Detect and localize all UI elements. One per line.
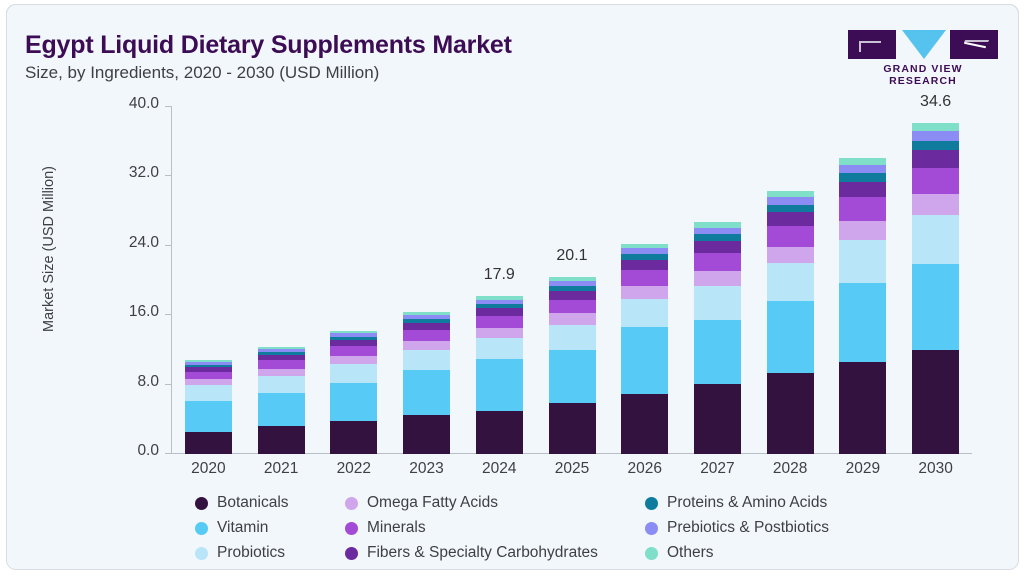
bar-segment[interactable] — [767, 263, 814, 301]
legend-color-swatch-icon — [645, 547, 658, 560]
bar-segment[interactable] — [330, 331, 377, 334]
bar-value-label: 17.9 — [463, 266, 536, 284]
x-axis-tick-label: 2021 — [245, 460, 318, 478]
bar-segment[interactable] — [476, 328, 523, 338]
legend-item[interactable]: Fibers & Specialty Carbohydrates — [345, 541, 598, 565]
bar-segment[interactable] — [549, 350, 596, 403]
bar-segment[interactable] — [549, 313, 596, 324]
bar-segment[interactable] — [258, 352, 305, 355]
bar-segment[interactable] — [330, 340, 377, 346]
bar-segment[interactable] — [549, 277, 596, 281]
stacked-bar[interactable] — [258, 347, 305, 454]
legend-item-label: Vitamin — [217, 519, 268, 537]
x-axis-tick-label: 2030 — [899, 460, 972, 478]
bar-segment[interactable] — [185, 432, 232, 454]
bar-segment[interactable] — [767, 197, 814, 204]
bar-segment[interactable] — [621, 270, 668, 286]
bar-segment[interactable] — [694, 320, 741, 384]
bar-segment[interactable] — [694, 286, 741, 320]
legend-item[interactable]: Vitamin — [195, 516, 268, 540]
x-axis-tick-label: 2028 — [754, 460, 827, 478]
bar-segment[interactable] — [839, 362, 886, 454]
bar-segment[interactable] — [476, 300, 523, 304]
legend-item[interactable]: Omega Fatty Acids — [345, 491, 498, 515]
bar-value-label: 20.1 — [536, 247, 609, 265]
legend-item[interactable]: Proteins & Amino Acids — [645, 491, 827, 515]
stacked-bar[interactable] — [185, 360, 232, 454]
legend-item[interactable]: Botanicals — [195, 491, 289, 515]
y-axis-tick-label: 32.0 — [99, 164, 159, 182]
legend-color-swatch-icon — [645, 497, 658, 510]
bar-segment[interactable] — [476, 338, 523, 360]
bar-segment[interactable] — [767, 247, 814, 263]
bar-segment[interactable] — [258, 369, 305, 376]
bar-segment[interactable] — [694, 271, 741, 286]
x-axis-tick-label: 2025 — [536, 460, 609, 478]
stacked-bar[interactable] — [330, 331, 377, 454]
legend-item-label: Proteins & Amino Acids — [667, 494, 827, 512]
bar-segment[interactable] — [621, 286, 668, 299]
legend-item-label: Probiotics — [217, 544, 285, 562]
bar-segment[interactable] — [839, 158, 886, 165]
bar-segment[interactable] — [476, 359, 523, 410]
bar-segment[interactable] — [403, 315, 450, 319]
x-axis-tick-label: 2022 — [317, 460, 390, 478]
bar-segment[interactable] — [694, 234, 741, 241]
bar-segment[interactable] — [330, 346, 377, 356]
y-axis-tick-label: 16.0 — [99, 303, 159, 321]
bar-segment[interactable] — [912, 131, 959, 141]
bar-segment[interactable] — [403, 330, 450, 341]
bar-segment[interactable] — [185, 372, 232, 380]
stacked-bar[interactable] — [767, 191, 814, 454]
bar-segment[interactable] — [258, 349, 305, 352]
bar-segment[interactable] — [476, 296, 523, 299]
legend-item-label: Others — [667, 544, 714, 562]
x-axis-tick-label: 2020 — [172, 460, 245, 478]
stacked-bar[interactable] — [839, 158, 886, 454]
chart-legend: BotanicalsVitaminProbioticsOmega Fatty A… — [195, 491, 1005, 563]
bar-segment[interactable] — [839, 221, 886, 240]
bar-segment[interactable] — [549, 281, 596, 286]
bar-segment[interactable] — [549, 403, 596, 454]
bar-segment[interactable] — [403, 350, 450, 370]
bar-segment[interactable] — [694, 253, 741, 271]
legend-item-label: Botanicals — [217, 494, 289, 512]
legend-item-label: Omega Fatty Acids — [367, 494, 498, 512]
bar-segment[interactable] — [839, 182, 886, 198]
bar-segment[interactable] — [694, 228, 741, 235]
bar-segment[interactable] — [912, 264, 959, 350]
stacked-bar[interactable] — [476, 296, 523, 454]
bar-segment[interactable] — [476, 304, 523, 308]
legend-color-swatch-icon — [345, 547, 358, 560]
legend-item-label: Minerals — [367, 519, 426, 537]
bar-segment[interactable] — [185, 360, 232, 362]
legend-color-swatch-icon — [195, 497, 208, 510]
y-axis-tick-label: 8.0 — [99, 373, 159, 391]
bar-segment[interactable] — [330, 421, 377, 454]
bar-segment[interactable] — [767, 205, 814, 212]
bar-segment[interactable] — [185, 401, 232, 432]
bar-segment[interactable] — [185, 362, 232, 365]
y-axis-tick-label: 40.0 — [99, 95, 159, 113]
bar-segment[interactable] — [185, 379, 232, 385]
bar-segment[interactable] — [476, 411, 523, 454]
x-axis-labels: 2020202120222023202420252026202720282029… — [172, 460, 972, 486]
bar-segment[interactable] — [839, 165, 886, 173]
bar-segment[interactable] — [621, 394, 668, 454]
bar-segment[interactable] — [912, 141, 959, 151]
bar-segment[interactable] — [621, 327, 668, 394]
bar-segment[interactable] — [403, 323, 450, 330]
bar-segment[interactable] — [767, 191, 814, 198]
bar-value-label: 34.6 — [899, 93, 972, 111]
bar-segment[interactable] — [912, 215, 959, 264]
legend-color-swatch-icon — [345, 522, 358, 535]
bar-segment[interactable] — [912, 123, 959, 131]
bar-segment[interactable] — [839, 173, 886, 181]
bar-segment[interactable] — [258, 376, 305, 393]
x-axis-tick-label: 2026 — [608, 460, 681, 478]
bar-segment[interactable] — [185, 365, 232, 368]
bar-segment[interactable] — [185, 385, 232, 401]
legend-color-swatch-icon — [195, 547, 208, 560]
legend-color-swatch-icon — [645, 522, 658, 535]
bar-segment[interactable] — [258, 360, 305, 369]
bar-segment[interactable] — [912, 168, 959, 194]
bar-segment[interactable] — [330, 364, 377, 383]
bar-segment[interactable] — [258, 347, 305, 349]
bar-segment[interactable] — [403, 312, 450, 315]
bar-segment[interactable] — [621, 260, 668, 270]
bar-segment[interactable] — [839, 240, 886, 283]
bar-segment[interactable] — [767, 212, 814, 226]
bar-segment[interactable] — [912, 194, 959, 215]
bar-segment[interactable] — [403, 319, 450, 323]
y-axis-tick-label: 24.0 — [99, 234, 159, 252]
stacked-bar[interactable] — [694, 222, 741, 454]
bar-series-group — [172, 106, 972, 454]
chart-plot-area: Market Size (USD Million) 0.08.016.024.0… — [7, 5, 1019, 570]
bar-segment[interactable] — [621, 248, 668, 254]
bar-segment[interactable] — [330, 356, 377, 364]
bar-segment[interactable] — [258, 355, 305, 360]
bar-segment[interactable] — [767, 373, 814, 454]
y-axis-labels: 0.08.016.024.032.040.0 — [93, 5, 159, 570]
x-axis-tick-label: 2023 — [390, 460, 463, 478]
bar-segment[interactable] — [403, 415, 450, 454]
bar-segment[interactable] — [621, 244, 668, 249]
x-axis-tick-label: 2027 — [681, 460, 754, 478]
stacked-bar[interactable] — [912, 123, 959, 454]
legend-item-label: Prebiotics & Postbiotics — [667, 519, 829, 537]
bar-segment[interactable] — [549, 286, 596, 291]
stacked-bar[interactable] — [403, 312, 450, 454]
bar-segment[interactable] — [403, 370, 450, 415]
bar-segment[interactable] — [330, 333, 377, 336]
bar-segment[interactable] — [330, 337, 377, 340]
bar-segment[interactable] — [476, 316, 523, 328]
x-axis-tick-label: 2029 — [827, 460, 900, 478]
bar-segment[interactable] — [476, 308, 523, 316]
x-axis-tick-label: 2024 — [463, 460, 536, 478]
bar-segment[interactable] — [549, 291, 596, 300]
bar-segment[interactable] — [694, 384, 741, 454]
bar-segment[interactable] — [258, 426, 305, 454]
bar-segment[interactable] — [694, 222, 741, 228]
y-axis-title: Market Size (USD Million) — [41, 119, 57, 379]
bar-segment[interactable] — [694, 241, 741, 253]
bar-segment[interactable] — [621, 299, 668, 328]
bar-segment[interactable] — [912, 150, 959, 167]
stacked-bar[interactable] — [549, 277, 596, 454]
bar-segment[interactable] — [549, 325, 596, 350]
bar-segment[interactable] — [767, 226, 814, 247]
bar-segment[interactable] — [767, 301, 814, 373]
bar-segment[interactable] — [549, 300, 596, 314]
chart-card: Egypt Liquid Dietary Supplements Market … — [6, 4, 1019, 570]
legend-item[interactable]: Others — [645, 541, 714, 565]
bar-segment[interactable] — [258, 393, 305, 426]
bar-segment[interactable] — [839, 197, 886, 220]
legend-item[interactable]: Minerals — [345, 516, 426, 540]
y-axis-tick-label: 0.0 — [99, 442, 159, 460]
bar-segment[interactable] — [912, 350, 959, 454]
bar-segment[interactable] — [839, 283, 886, 362]
legend-item[interactable]: Prebiotics & Postbiotics — [645, 516, 829, 540]
bar-segment[interactable] — [185, 367, 232, 371]
bar-segment[interactable] — [330, 383, 377, 421]
bar-segment[interactable] — [621, 254, 668, 260]
legend-color-swatch-icon — [195, 522, 208, 535]
stacked-bar[interactable] — [621, 244, 668, 454]
legend-item[interactable]: Probiotics — [195, 541, 285, 565]
legend-item-label: Fibers & Specialty Carbohydrates — [367, 544, 598, 562]
bar-segment[interactable] — [403, 341, 450, 350]
legend-color-swatch-icon — [345, 497, 358, 510]
